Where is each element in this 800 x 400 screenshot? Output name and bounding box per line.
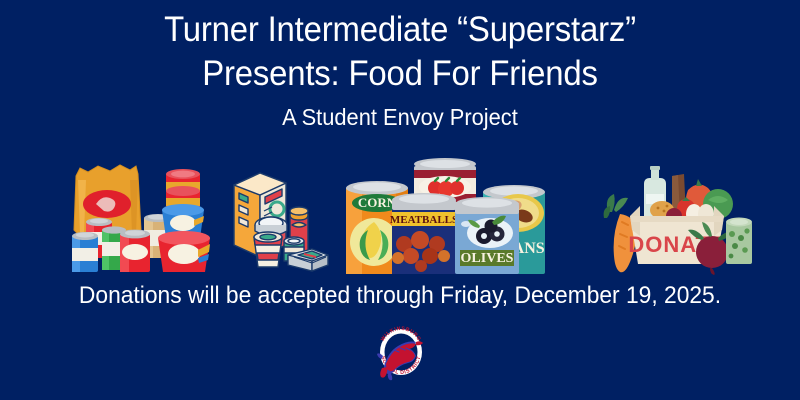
can-red-front-icon	[120, 230, 150, 272]
flyer-canvas: Turner Intermediate “Superstarz” Present…	[0, 0, 800, 400]
subtitle: A Student Envoy Project	[20, 100, 780, 134]
can-corn-label: CORN	[358, 195, 397, 210]
can-blue-icon	[72, 232, 98, 272]
headline-line-1: Turner Intermediate “Superstarz”	[24, 8, 776, 52]
headline-block: Turner Intermediate “Superstarz” Present…	[0, 8, 800, 134]
can-olives-label: OLIVES	[461, 251, 514, 266]
pea-can-icon	[726, 218, 752, 265]
cup-noodle-icon	[254, 232, 282, 267]
deadline-block: Donations will be accepted through Frida…	[0, 281, 800, 311]
illustration-labeled-cans: CORN BEANS MEATBALLS	[342, 158, 547, 276]
deadline-text: Donations will be accepted through Frida…	[20, 281, 780, 311]
illustration-donation-box: DONATE	[600, 160, 755, 275]
can-meatballs-label: MEATBALLS	[390, 214, 458, 226]
can-olives-icon: OLIVES	[455, 197, 519, 274]
wilkinsburg-school-district-logo: WILKINSBURG SCHOOL DISTRICT	[372, 318, 429, 384]
illustration-chips-and-cans	[58, 160, 228, 275]
greens-icon	[604, 194, 628, 218]
illustration-cereal-box-and-cans	[226, 163, 334, 273]
tub-red-icon	[158, 231, 210, 272]
can-meatballs-icon: MEATBALLS	[390, 193, 458, 274]
headline-line-2: Presents: Food For Friends	[24, 52, 776, 96]
stacked-tin-icon	[166, 169, 200, 207]
